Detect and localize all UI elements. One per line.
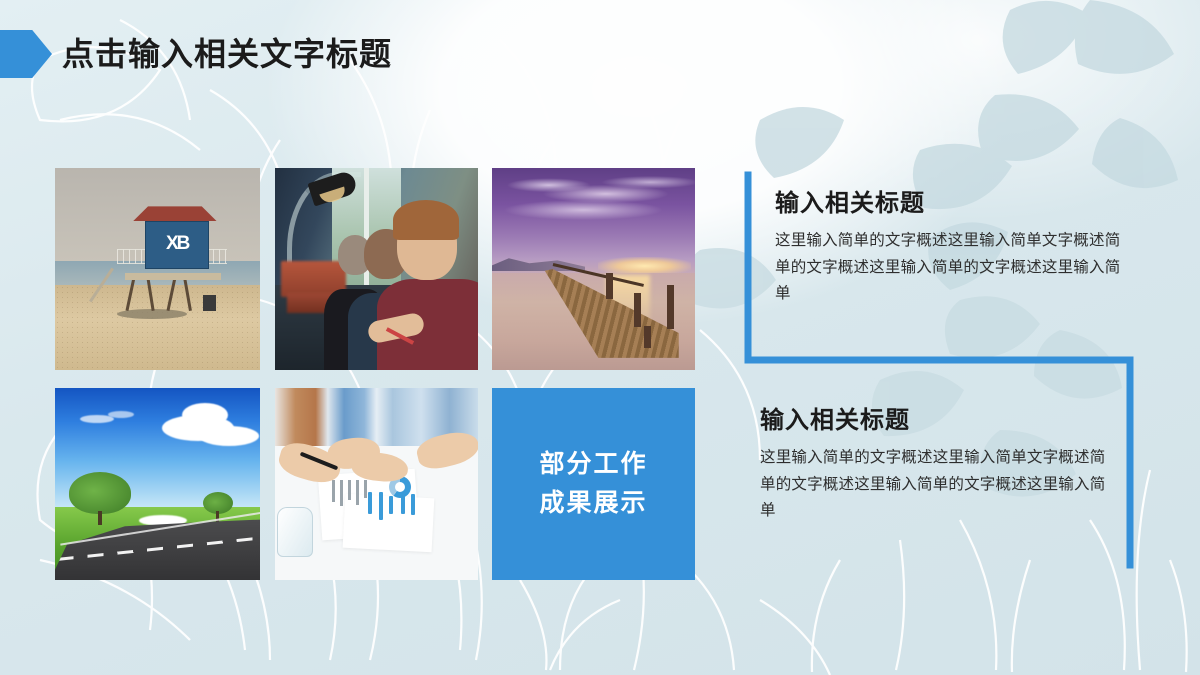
gallery-image-business-meeting-charts[interactable] bbox=[275, 388, 478, 580]
text-block-2-title: 输入相关标题 bbox=[760, 400, 1120, 435]
students-photo bbox=[275, 168, 478, 370]
gallery-image-green-field-road[interactable] bbox=[55, 388, 260, 580]
road-photo bbox=[55, 388, 260, 580]
gallery-image-purple-sunset-pier[interactable] bbox=[492, 168, 695, 370]
title-arrow-icon bbox=[0, 30, 52, 78]
meeting-photo bbox=[275, 388, 478, 580]
beach-photo: XB bbox=[55, 168, 260, 370]
gallery-image-beach-lifeguard-tower[interactable]: XB bbox=[55, 168, 260, 370]
tower-logo-text: XB bbox=[166, 233, 188, 255]
caption-line-1: 部分工作 bbox=[539, 452, 647, 477]
text-block-1: 输入相关标题 这里输入简单的文字概述这里输入简单文字概述简单的文字概述这里输入简… bbox=[775, 183, 1135, 308]
text-block-2-body: 这里输入简单的文字概述这里输入简单文字概述简单的文字概述这里输入简单的文字概述这… bbox=[760, 445, 1120, 525]
caption-tile[interactable]: 部分工作 成果展示 bbox=[492, 388, 695, 580]
pier-photo bbox=[492, 168, 695, 370]
text-block-1-body: 这里输入简单的文字概述这里输入简单文字概述简单的文字概述这里输入简单的文字概述这… bbox=[775, 228, 1135, 308]
text-block-1-title: 输入相关标题 bbox=[775, 183, 1135, 218]
text-block-2: 输入相关标题 这里输入简单的文字概述这里输入简单文字概述简单的文字概述这里输入简… bbox=[760, 400, 1120, 525]
slide-canvas: 点击输入相关文字标题 XB bbox=[0, 0, 1200, 675]
gallery-image-students-studying-counter[interactable] bbox=[275, 168, 478, 370]
caption-line-2: 成果展示 bbox=[539, 491, 647, 516]
page-title: 点击输入相关文字标题 bbox=[62, 29, 392, 75]
